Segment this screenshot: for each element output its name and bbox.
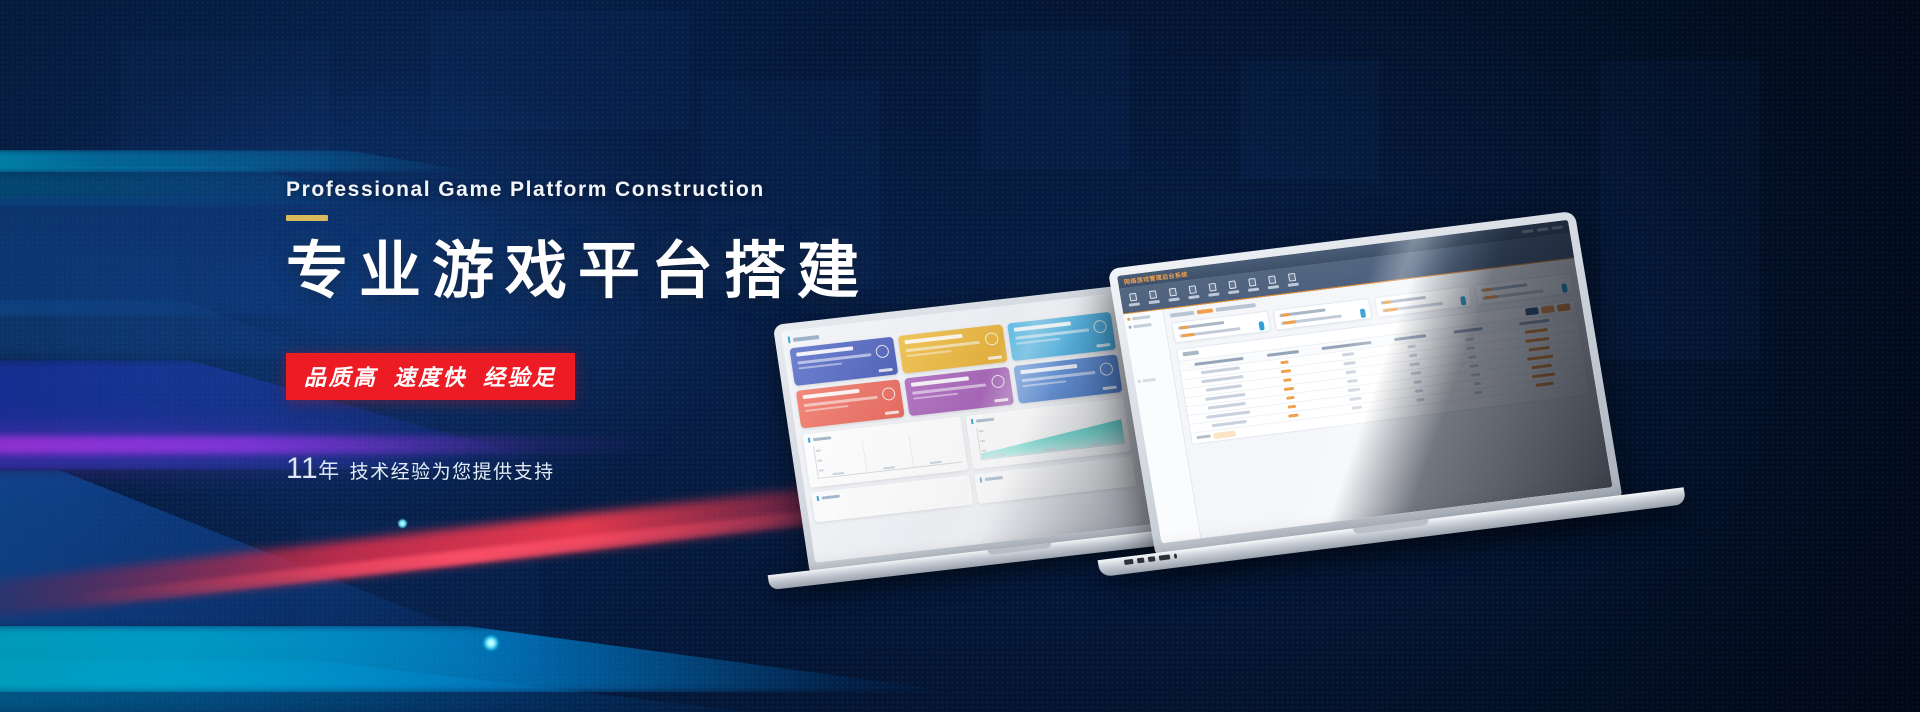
- toolbar-item[interactable]: [1246, 278, 1259, 292]
- english-word-3: Platform: [510, 178, 608, 201]
- add-button[interactable]: [1541, 305, 1555, 314]
- admin-ui: 网络游戏管理后台系统: [1117, 220, 1613, 543]
- menu-icon: [1248, 278, 1256, 287]
- badge-item-1: 品质高: [304, 365, 378, 390]
- toolbar-item[interactable]: [1286, 273, 1299, 287]
- titlebar-action[interactable]: [1522, 229, 1533, 233]
- english-word-2: Game: [438, 178, 503, 201]
- user-icon: [1169, 288, 1177, 297]
- toolbar-item[interactable]: [1207, 283, 1220, 297]
- export-button[interactable]: [1557, 303, 1571, 312]
- copy-block: ProfessionalGamePlatformConstruction 专业游…: [286, 178, 1046, 486]
- stat-icon: [1359, 308, 1365, 317]
- grid-icon: [1228, 281, 1236, 290]
- window-icon: [1268, 276, 1276, 285]
- feature-badge: 品质高速度快经验足: [286, 353, 575, 400]
- years-unit: 年: [318, 460, 340, 483]
- experience-subline: 11年技术经验为您提供支持: [286, 452, 1046, 486]
- titlebar-action[interactable]: [1537, 227, 1548, 231]
- sidebar-item[interactable]: [1128, 322, 1161, 329]
- english-word-4: Construction: [615, 178, 765, 201]
- front-laptop-ports: [1124, 553, 1177, 564]
- experience-text: 技术经验为您提供支持: [350, 462, 555, 483]
- stat-icon: [1460, 296, 1466, 305]
- front-laptop: 网络游戏管理后台系统: [1108, 211, 1623, 555]
- toolbar-item[interactable]: [1187, 285, 1200, 299]
- sidebar-subitem[interactable]: [1137, 376, 1170, 383]
- years-value: 11年: [286, 452, 340, 485]
- list-icon: [1189, 286, 1197, 295]
- chart-icon: [1209, 283, 1217, 292]
- feature-badge-text: 品质高速度快经验足: [302, 360, 559, 392]
- admin-content: [1163, 258, 1612, 538]
- stat-icon: [1561, 283, 1567, 292]
- search-button[interactable]: [1525, 307, 1539, 316]
- years-number: 11: [286, 452, 318, 485]
- toolbar-item[interactable]: [1147, 290, 1160, 304]
- banner-root: ProfessionalGamePlatformConstruction 专业游…: [0, 0, 1920, 712]
- english-word-1: Professional: [286, 178, 431, 201]
- accent-rule: [286, 215, 328, 221]
- sidebar-item[interactable]: [1127, 314, 1160, 321]
- toolbar-item[interactable]: [1167, 288, 1180, 302]
- file-icon: [1149, 290, 1157, 299]
- admin-titlebar-actions: [1522, 225, 1563, 233]
- stat-icon: [1258, 321, 1264, 330]
- power-icon: [1288, 273, 1296, 282]
- badge-item-2: 速度快: [394, 365, 468, 390]
- toolbar-item[interactable]: [1127, 293, 1140, 307]
- pagination-control[interactable]: [1213, 430, 1236, 439]
- badge-item-3: 经验足: [483, 365, 557, 390]
- titlebar-action[interactable]: [1552, 225, 1563, 229]
- front-laptop-screen: 网络游戏管理后台系统: [1117, 220, 1613, 543]
- page-title: 专业游戏平台搭建: [286, 237, 1046, 306]
- document-icon: [1129, 293, 1137, 302]
- toolbar-item[interactable]: [1226, 280, 1239, 294]
- toolbar-item[interactable]: [1266, 275, 1279, 289]
- english-tagline: ProfessionalGamePlatformConstruction: [286, 178, 1046, 202]
